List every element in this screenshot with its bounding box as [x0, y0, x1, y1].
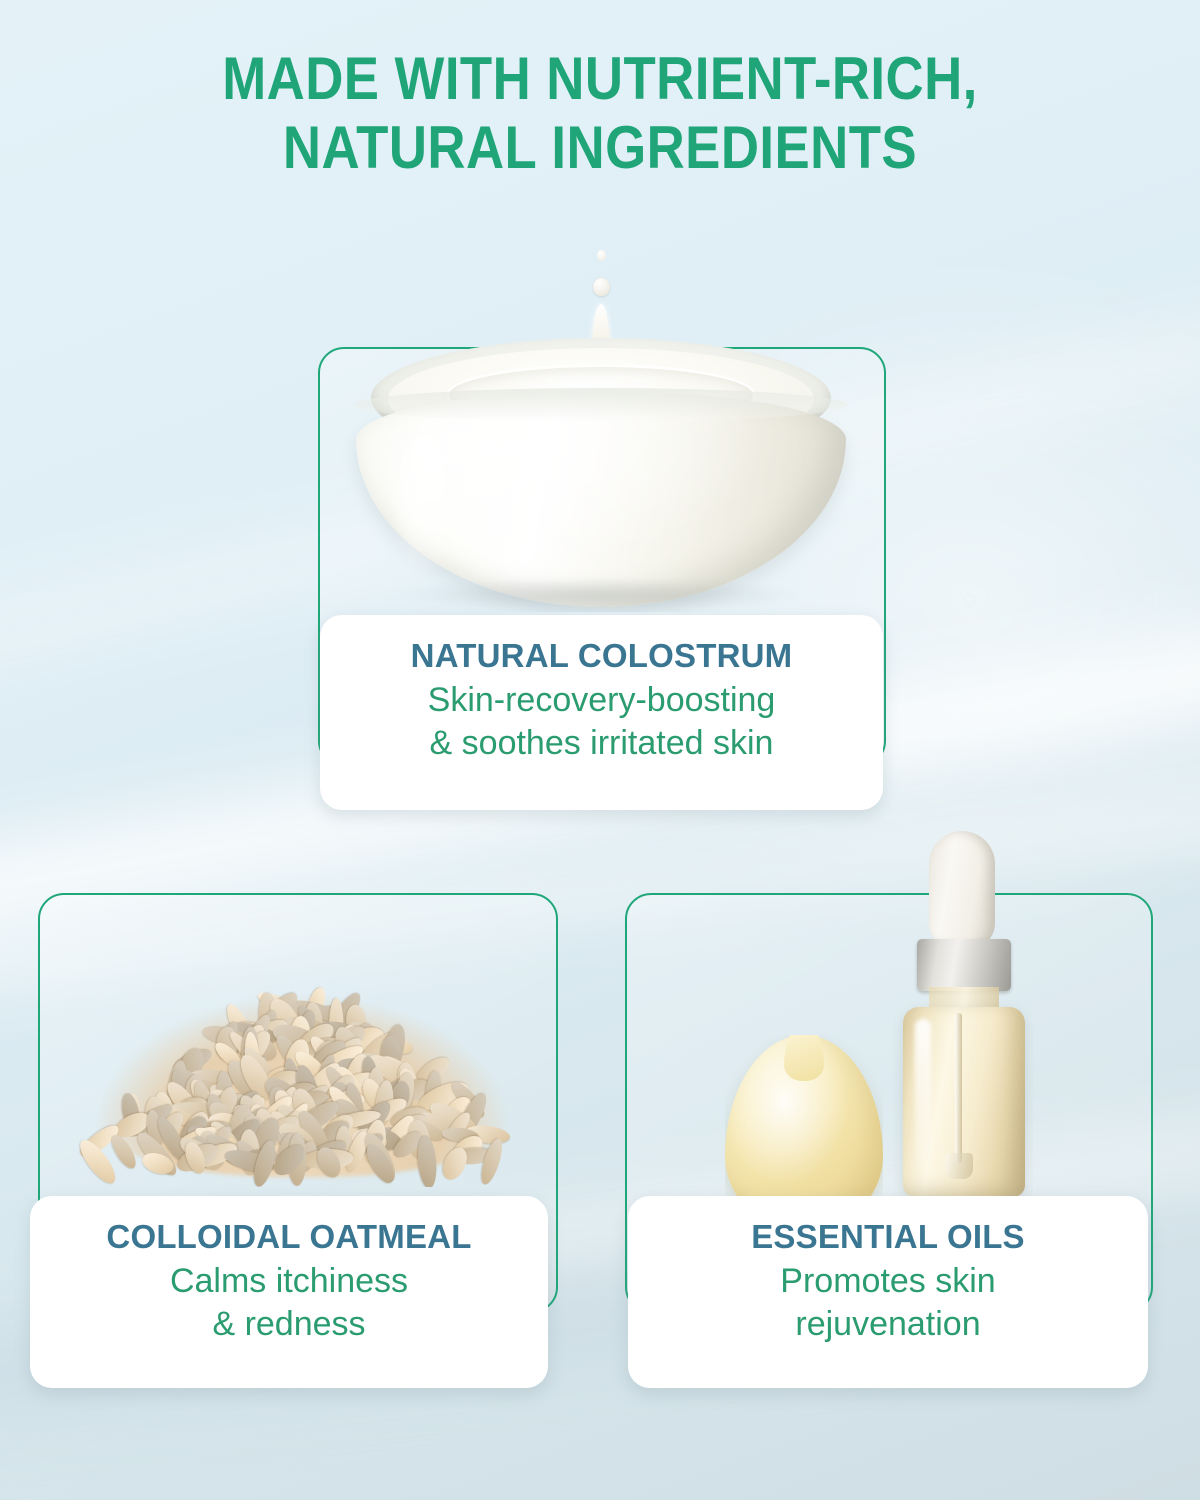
bottle-pipette	[955, 1013, 962, 1163]
ingredient-card-oils: ESSENTIAL OILS Promotes skin rejuvenatio…	[625, 893, 1153, 1313]
oatmeal-image	[78, 937, 528, 1187]
card-description: Promotes skin rejuvenation	[628, 1260, 1148, 1347]
card-label-panel: NATURAL COLOSTRUM Skin-recovery-boosting…	[320, 615, 883, 810]
oil-droplet-tip	[784, 1035, 824, 1081]
milk-droplet-large-icon	[593, 278, 610, 296]
dropper-metal-collar	[917, 939, 1011, 991]
ingredient-card-oatmeal: COLLOIDAL OATMEAL Calms itchiness & redn…	[38, 893, 558, 1313]
bottle-highlight	[915, 1019, 931, 1169]
card-title: ESSENTIAL OILS	[628, 1218, 1148, 1256]
bottle-pipette-tip	[945, 1153, 973, 1179]
ingredients-infographic: MADE WITH NUTRIENT-RICH, NATURAL INGREDI…	[0, 0, 1200, 1500]
card-title: NATURAL COLOSTRUM	[320, 637, 883, 675]
dropper-bulb	[929, 831, 995, 949]
milk-droplet-small-icon	[597, 250, 606, 261]
card-description: Skin-recovery-boosting & soothes irritat…	[320, 679, 883, 766]
card-title: COLLOIDAL OATMEAL	[30, 1218, 548, 1256]
card-description: Calms itchiness & redness	[30, 1260, 548, 1347]
dropper-bottle-image	[893, 831, 1033, 1197]
card-label-panel: COLLOIDAL OATMEAL Calms itchiness & redn…	[30, 1196, 548, 1388]
jar-glass-lip	[354, 388, 848, 422]
page-title: MADE WITH NUTRIENT-RICH, NATURAL INGREDI…	[72, 44, 1128, 182]
jar-shadow	[396, 578, 806, 612]
ingredient-card-colostrum: NATURAL COLOSTRUM Skin-recovery-boosting…	[318, 347, 886, 767]
jar-highlight	[398, 432, 450, 572]
colostrum-jar-image	[336, 242, 866, 612]
card-label-panel: ESSENTIAL OILS Promotes skin rejuvenatio…	[628, 1196, 1148, 1388]
